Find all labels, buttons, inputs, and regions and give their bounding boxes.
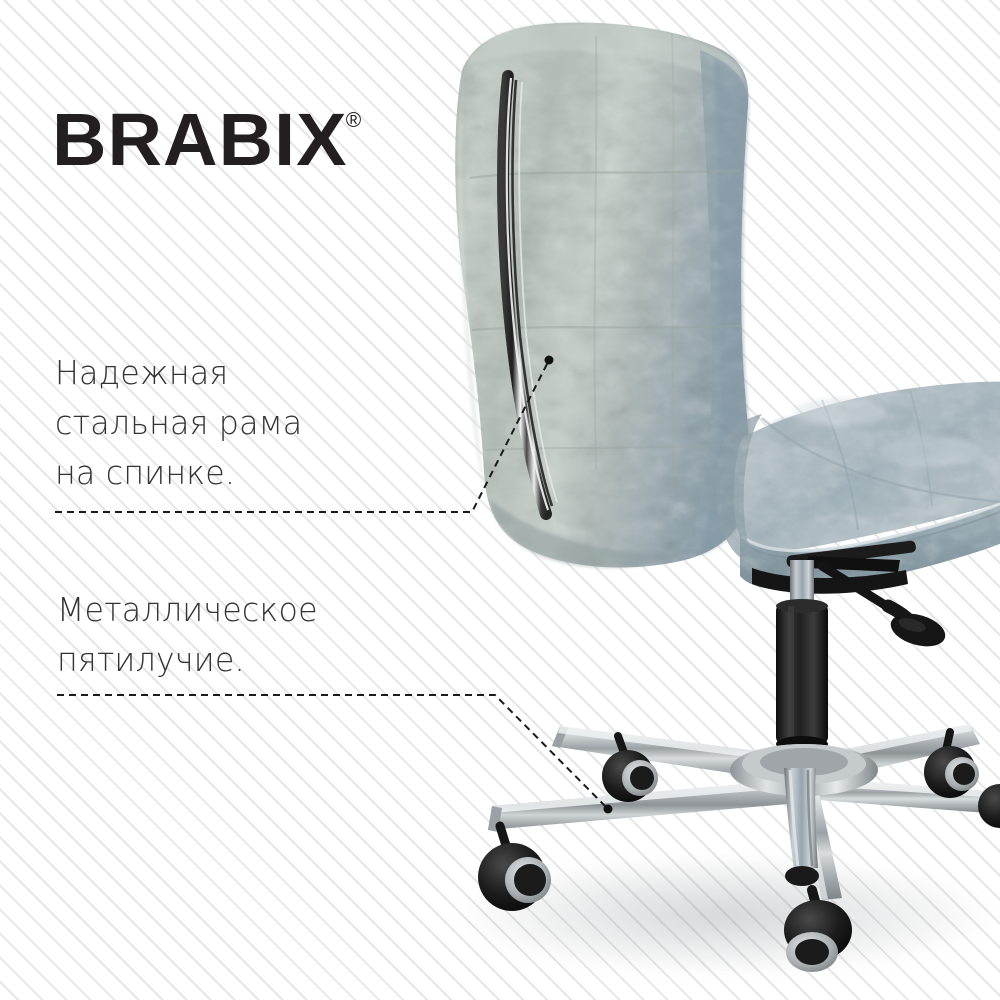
brand-wordmark: BRABIX [52, 103, 347, 177]
product-infographic-page: BRABIX ® Надежная стальная рама на спинк… [0, 0, 1000, 1000]
callout-steel-frame-text: Надежная стальная рама на спинке. [55, 348, 439, 498]
callout-steel-frame: Надежная стальная рама на спинке. [55, 348, 455, 498]
caster-left-front [478, 826, 551, 911]
brabix-logo: BRABIX ® [52, 103, 361, 177]
callout-five-star-base: Металлическое пятилучие. [57, 585, 457, 685]
callout-five-star-base-text: Металлическое пятилучие. [57, 585, 441, 685]
chrome-five-star-base [488, 724, 1000, 900]
registered-trademark-icon: ® [346, 110, 361, 131]
caster-front [784, 890, 852, 972]
